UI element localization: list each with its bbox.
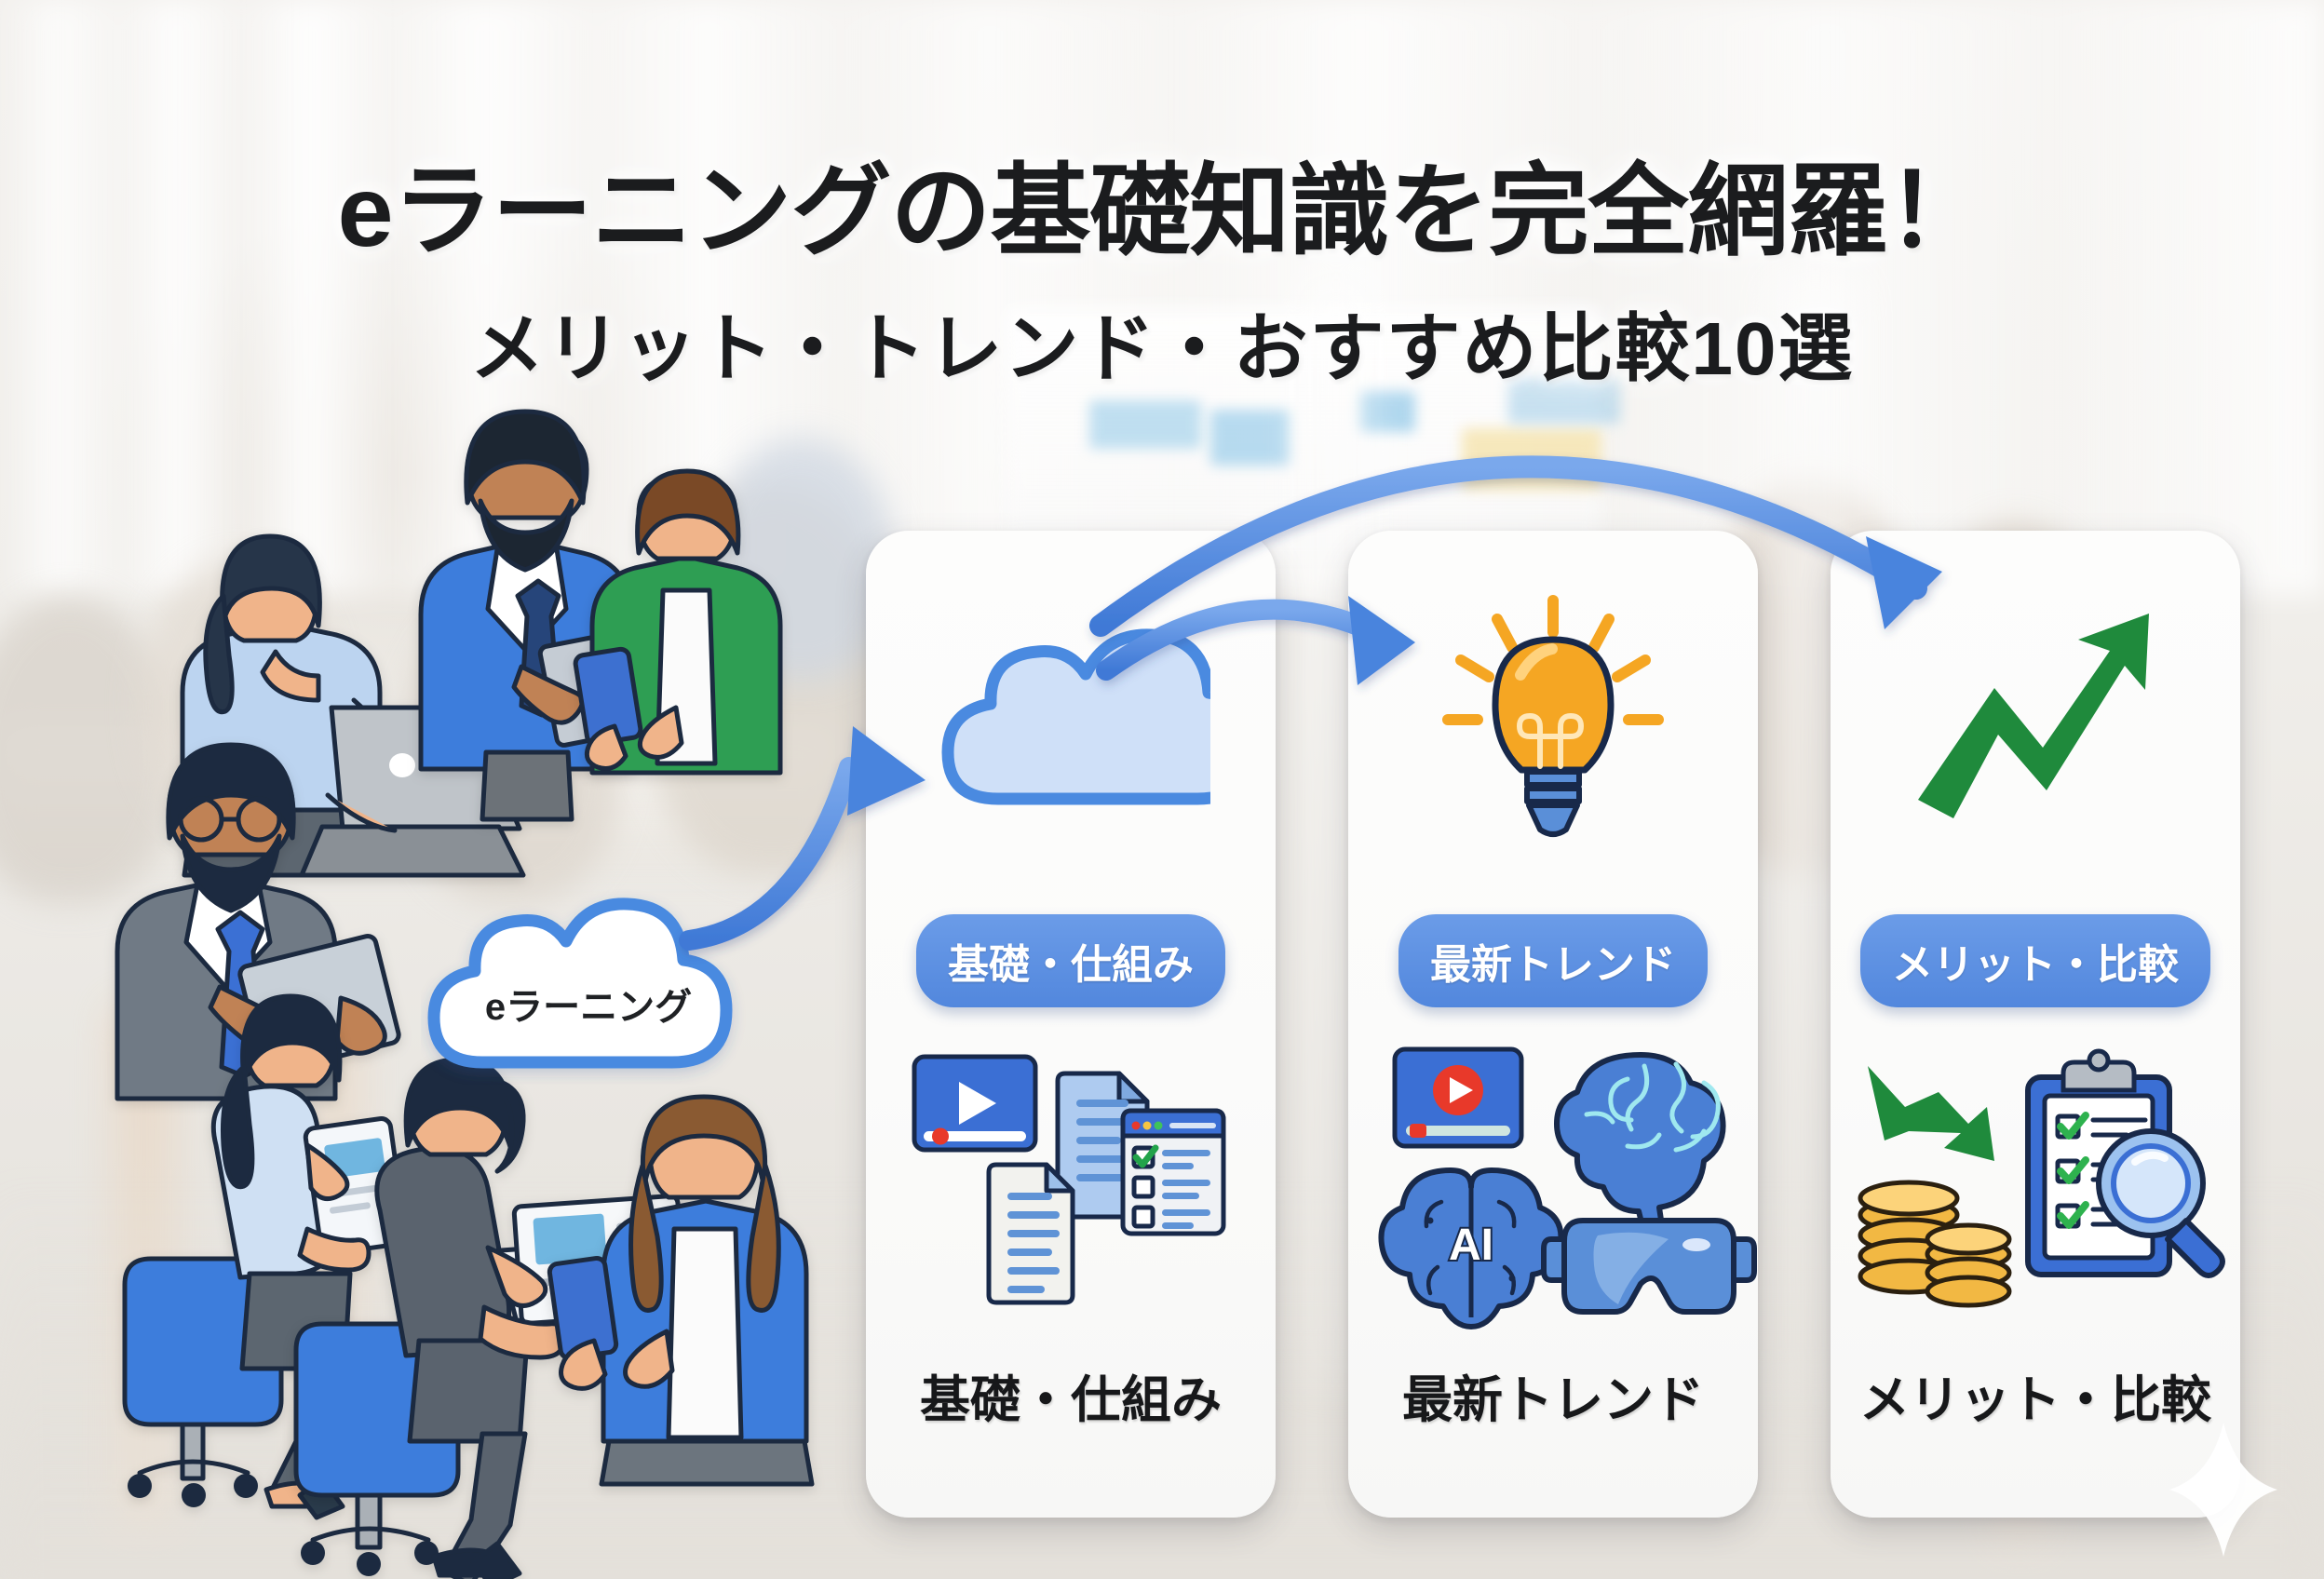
card-kiso[interactable]: 基礎・仕組み .ic{stroke:#18294a;stroke-width:5… bbox=[866, 531, 1276, 1518]
page-title: eラーニングの基礎知識を完全網羅！ bbox=[0, 130, 2324, 276]
card2-hero bbox=[1348, 566, 1758, 873]
page-subtitle: メリット・トレンド・おすすめ比較10選 bbox=[0, 289, 2324, 397]
card3-label: メリット・比較 bbox=[1831, 1358, 2240, 1432]
card1-icons: .ic{stroke:#18294a;stroke-width:5;stroke… bbox=[866, 1038, 1276, 1355]
background-light-streak bbox=[112, 1005, 177, 1527]
background-blurred-person bbox=[140, 559, 335, 838]
card1-label: 基礎・仕組み bbox=[866, 1358, 1276, 1432]
source-cloud-node[interactable]: eラーニング bbox=[421, 889, 756, 1085]
coins-cost-down-icon bbox=[1860, 1066, 2009, 1305]
card2-icons: AI bbox=[1348, 1038, 1758, 1355]
video-player-icon bbox=[914, 1057, 1035, 1150]
poster-canvas: eラーニングの基礎知識を完全網羅！ メリット・トレンド・おすすめ比較10選 .o… bbox=[0, 0, 2324, 1579]
background-sticky-note bbox=[1089, 400, 1201, 449]
background-sticky-note bbox=[1210, 410, 1290, 466]
card3-badge[interactable]: メリット・比較 bbox=[1860, 914, 2210, 1007]
background-light-streak bbox=[307, 1024, 363, 1508]
trend-up-arrow-icon bbox=[1896, 599, 2175, 841]
card-merit[interactable]: メリット・比較 bbox=[1831, 531, 2240, 1518]
ai-badge-text: AI bbox=[1449, 1221, 1493, 1270]
lightbulb-icon bbox=[1418, 589, 1688, 850]
card1-badge[interactable]: 基礎・仕組み bbox=[916, 914, 1225, 1007]
card2-badge[interactable]: 最新トレンド bbox=[1398, 914, 1708, 1007]
ai-brain-icon: AI bbox=[1381, 1170, 1561, 1327]
card2-label: 最新トレンド bbox=[1348, 1358, 1758, 1432]
vr-headset-icon bbox=[1544, 1221, 1754, 1312]
card3-hero bbox=[1831, 566, 2240, 873]
document-icon bbox=[989, 1165, 1073, 1302]
card1-hero bbox=[866, 566, 1276, 873]
background-blurred-person bbox=[400, 596, 624, 903]
cloud-icon bbox=[931, 613, 1210, 827]
background-sticky-note bbox=[1462, 428, 1601, 490]
checklist-window-icon bbox=[1123, 1111, 1223, 1234]
card-trend[interactable]: 最新トレンド bbox=[1348, 531, 1758, 1518]
card3-icons bbox=[1831, 1038, 2240, 1355]
video-player-icon bbox=[1395, 1049, 1521, 1146]
source-cloud-label: eラーニング bbox=[421, 889, 756, 1085]
